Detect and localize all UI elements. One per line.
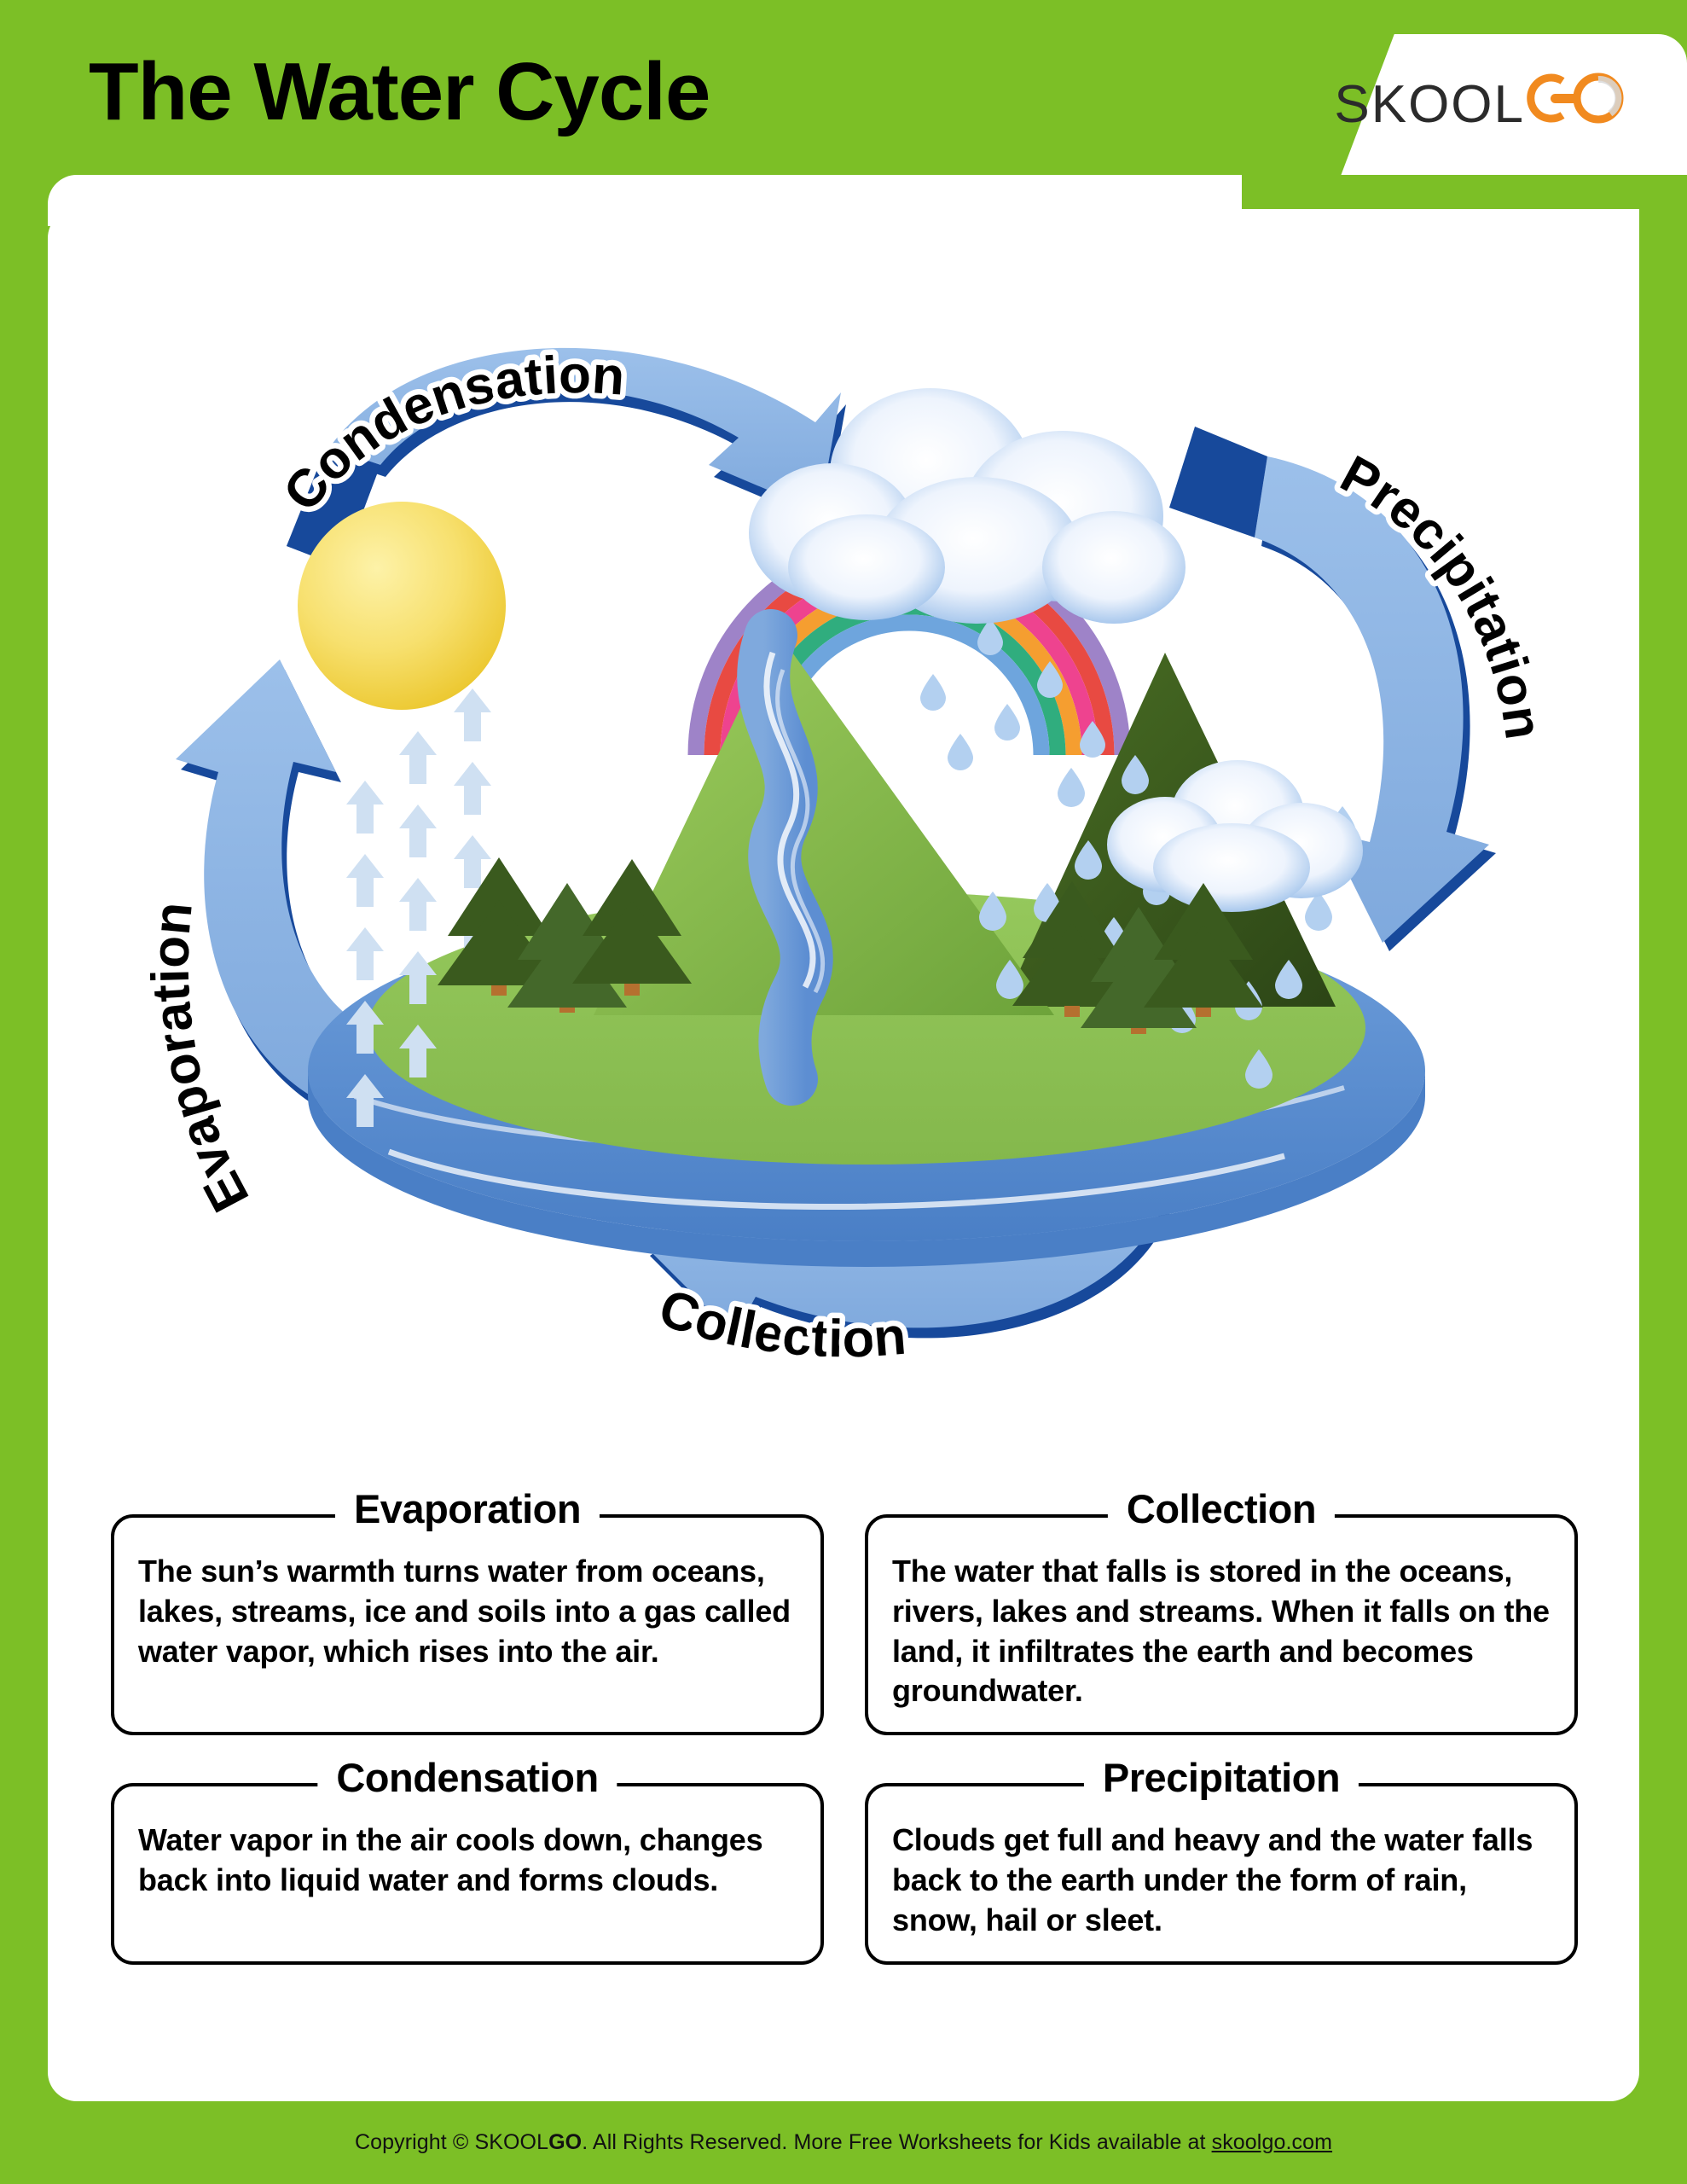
info-boxes-section: Evaporation The sun’s warmth turns water… (111, 1514, 1578, 2013)
info-box-title-condensation: Condensation (317, 1754, 617, 1801)
page-footer: Copyright © SKOOLGO. All Rights Reserved… (0, 2101, 1687, 2184)
info-box-body-precipitation: Clouds get full and heavy and the water … (892, 1821, 1551, 1940)
footer-link[interactable]: skoolgo.com (1212, 2130, 1332, 2154)
info-box-row-2: Condensation Water vapor in the air cool… (111, 1783, 1578, 1964)
water-cycle-diagram: Condensation Precipitation Collection Ev… (48, 209, 1639, 1480)
info-box-row-1: Evaporation The sun’s warmth turns water… (111, 1514, 1578, 1735)
logo-skool-text: SKOOL (1334, 74, 1525, 135)
info-box-condensation: Condensation Water vapor in the air cool… (111, 1783, 824, 1964)
info-box-collection: Collection The water that falls is store… (865, 1514, 1578, 1735)
logo-go-icon (1525, 69, 1626, 127)
info-box-title-evaporation: Evaporation (335, 1485, 600, 1532)
info-box-body-collection: The water that falls is stored in the oc… (892, 1552, 1551, 1711)
footer-copyright-prefix: Copyright © SKOOL (355, 2130, 548, 2154)
logo-go-text (1525, 69, 1626, 140)
info-box-body-condensation: Water vapor in the air cools down, chang… (138, 1821, 797, 1901)
brand-logo: SKOOL (1244, 34, 1687, 175)
info-box-body-evaporation: The sun’s warmth turns water from oceans… (138, 1552, 797, 1671)
page-title: The Water Cycle (89, 47, 710, 137)
info-box-title-precipitation: Precipitation (1084, 1754, 1359, 1801)
info-box-evaporation: Evaporation The sun’s warmth turns water… (111, 1514, 824, 1735)
sun-icon (298, 502, 506, 710)
footer-copyright-mid: . All Rights Reserved. More Free Workshe… (582, 2130, 1211, 2154)
info-box-precipitation: Precipitation Clouds get full and heavy … (865, 1783, 1578, 1964)
footer-brand-bold: GO (548, 2130, 582, 2154)
footer-copyright: Copyright © SKOOLGO. All Rights Reserved… (355, 2130, 1332, 2155)
info-box-title-collection: Collection (1108, 1485, 1335, 1532)
